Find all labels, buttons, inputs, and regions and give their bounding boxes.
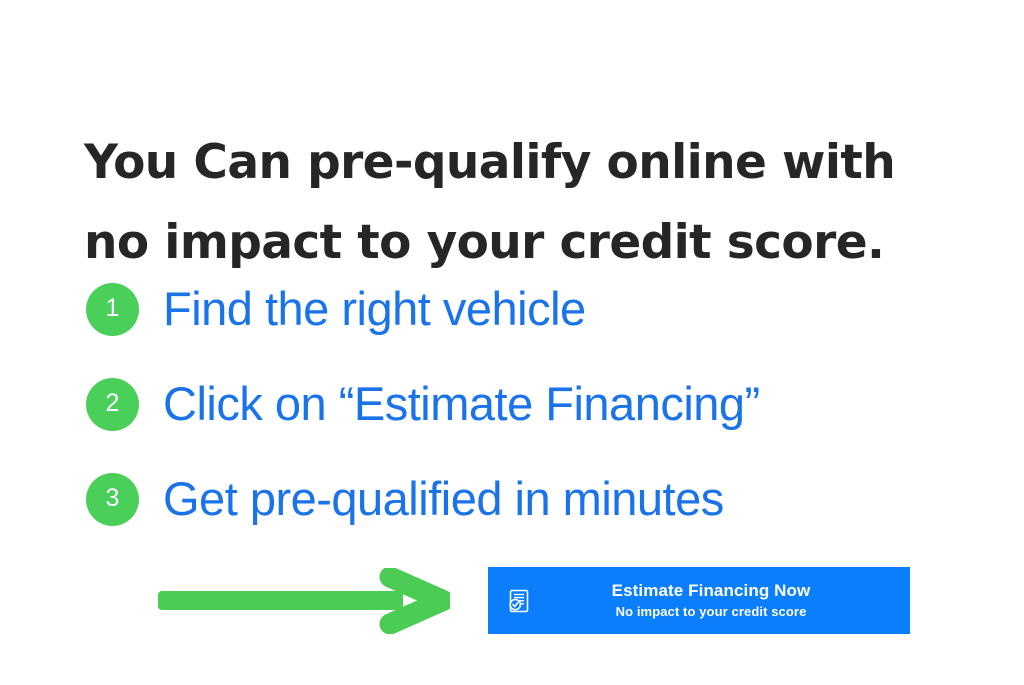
step-label: Click on “Estimate Financing” <box>163 377 760 431</box>
step-number-badge: 2 <box>86 378 139 431</box>
cta-subtitle: No impact to your credit score <box>616 602 807 621</box>
step-number-badge: 1 <box>86 283 139 336</box>
step-label: Get pre-qualified in minutes <box>163 472 724 526</box>
arrow-right-icon <box>158 568 450 634</box>
credit-report-check-icon <box>488 589 540 613</box>
steps-list: 1 Find the right vehicle 2 Click on “Est… <box>86 279 966 529</box>
cta-title: Estimate Financing Now <box>612 580 811 602</box>
page-title: You Can pre-qualify online with no impac… <box>84 123 944 283</box>
estimate-financing-button[interactable]: Estimate Financing Now No impact to your… <box>488 567 910 634</box>
step-number-badge: 3 <box>86 473 139 526</box>
cta-text-block: Estimate Financing Now No impact to your… <box>540 580 910 621</box>
list-item: 3 Get pre-qualified in minutes <box>86 469 966 529</box>
step-label: Find the right vehicle <box>163 282 586 336</box>
list-item: 1 Find the right vehicle <box>86 279 966 339</box>
list-item: 2 Click on “Estimate Financing” <box>86 374 966 434</box>
promo-banner: You Can pre-qualify online with no impac… <box>0 0 1024 685</box>
